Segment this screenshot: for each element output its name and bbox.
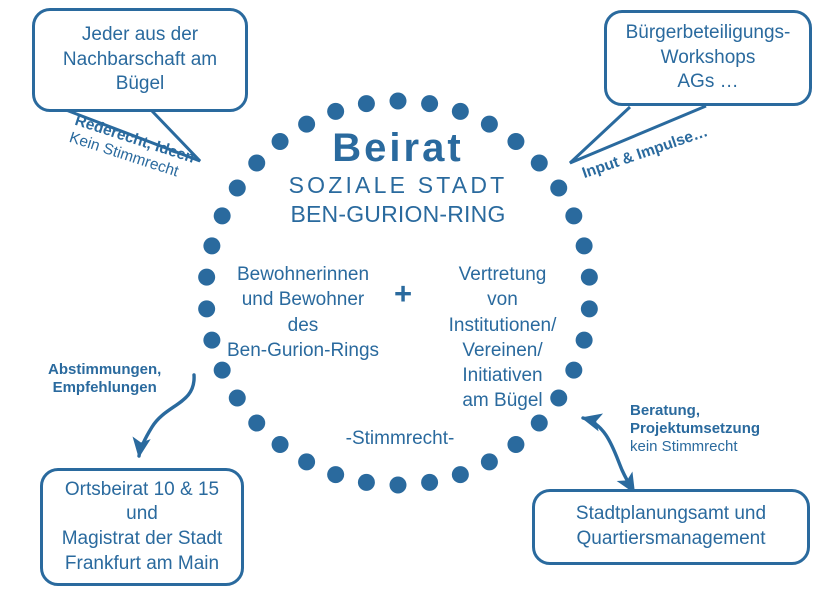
ring-dot [452,466,469,483]
ring-dot [421,95,438,112]
ring-dot [531,415,548,432]
ring-dot [421,474,438,491]
ring-dot [214,362,231,379]
connector-label-abstimmungen: Abstimmungen, Empfehlungen [48,361,161,397]
ring-dot [565,207,582,224]
ring-dot [576,237,593,254]
box-ortsbeirat[interactable]: Ortsbeirat 10 & 15 und Magistrat der Sta… [40,468,244,586]
ring-dot [214,207,231,224]
box-stadtplanungsamt-text: Stadtplanungsamt und Quartiersmanagement [576,502,766,551]
page-subtitle-location: BEN-GURION-RING [248,203,548,226]
ring-dot [481,453,498,470]
ring-dot [390,93,407,110]
connector-label-beratung: Beratung, Projektumsetzung kein Stimmrec… [630,402,760,456]
ring-dot [390,477,407,494]
ring-dot [358,95,375,112]
box-stadtplanungsamt[interactable]: Stadtplanungsamt und Quartiersmanagement [532,489,810,565]
page-title: Beirat [248,128,548,168]
connector-label-beratung-line2: Projektumsetzung [630,420,760,438]
page-subtitle-program: SOZIALE STADT [248,174,548,197]
connector-label-abstimmungen-line1: Abstimmungen, [48,361,161,379]
ring-dot [507,436,524,453]
ring-dot [550,179,567,196]
ring-dot [358,474,375,491]
connector-label-beratung-line1: Beratung, [630,402,760,420]
member-group-institutions-text: Vertretung von Institutionen/ Vereinen/ … [449,264,557,411]
connector-label-abstimmungen-line2: Empfehlungen [48,379,161,397]
ring-dot [229,179,246,196]
ring-dot [272,436,289,453]
member-group-residents-text: Bewohnerinnen und Bewohner des Ben-Gurio… [227,264,379,361]
voting-rights-note: -Stimmrecht- [300,429,500,448]
diagram-canvas: Jeder aus der Nachbarschaft am Bügel Bür… [0,0,820,600]
ring-dot [248,415,265,432]
connector-label-beratung-line3: kein Stimmrecht [630,438,760,456]
bubble-workshops-text: Bürgerbeteiligungs- Workshops AGs … [626,21,791,95]
member-group-residents: Bewohnerinnen und Bewohner des Ben-Gurio… [213,262,393,363]
ring-dot [298,453,315,470]
bubble-neighbourhood[interactable]: Jeder aus der Nachbarschaft am Bügel [32,8,248,112]
arrow-beratung [583,418,634,492]
ring-dot [327,103,344,120]
ring-dot [229,390,246,407]
ring-dot [452,103,469,120]
bubble-workshops[interactable]: Bürgerbeteiligungs- Workshops AGs … [604,10,812,106]
plus-icon: + [390,278,416,309]
ring-dot [327,466,344,483]
ring-dot [203,237,220,254]
member-group-institutions: Vertretung von Institutionen/ Vereinen/ … [420,262,585,414]
box-ortsbeirat-text: Ortsbeirat 10 & 15 und Magistrat der Sta… [62,478,223,577]
bubble-neighbourhood-text: Jeder aus der Nachbarschaft am Bügel [63,23,217,97]
